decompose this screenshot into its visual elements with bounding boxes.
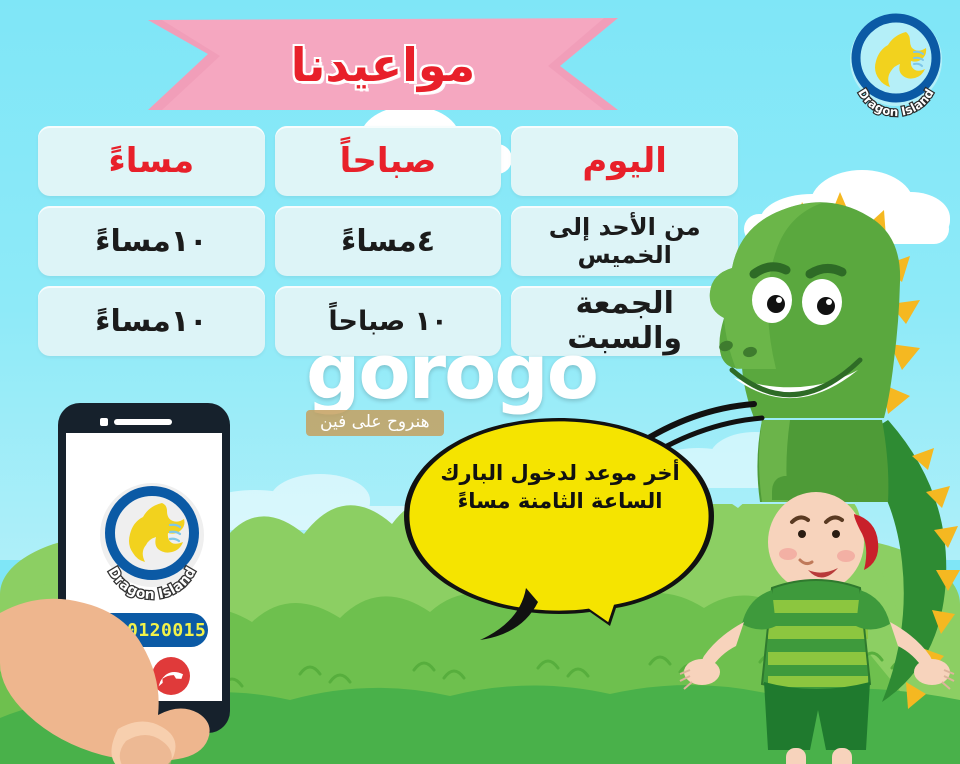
- notice-text: أخر موعد لدخول البارك الساعة الثامنة مسا…: [410, 442, 710, 532]
- phone-camera-icon: [100, 418, 108, 426]
- page-title: مواعيدنا: [148, 16, 618, 114]
- cell-morning: ٤مساءً: [275, 206, 502, 276]
- hand-holding-phone: [0, 553, 280, 764]
- poster-canvas: مواعيدنا Dragon Island اليوم صباحاً مساء…: [0, 0, 960, 764]
- watermark: gorogo هنروح على فين: [306, 336, 646, 446]
- notice-line-1: أخر موعد لدخول البارك: [440, 459, 679, 487]
- brand-logo: Dragon Island: [840, 8, 952, 120]
- watermark-text: gorogo: [306, 336, 646, 408]
- watermark-tagline: هنروح على فين: [306, 410, 444, 436]
- header-evening: مساءً: [38, 126, 265, 196]
- header-morning: صباحاً: [275, 126, 502, 196]
- phone-speaker: [114, 419, 172, 425]
- table-header-row: اليوم صباحاً مساءً: [38, 126, 738, 196]
- notice-line-2: الساعة الثامنة مساءً: [458, 487, 663, 515]
- cell-evening: ١٠مساءً: [38, 206, 265, 276]
- table-row: من الأحد إلى الخميس ٤مساءً ١٠مساءً: [38, 206, 738, 276]
- phone-mockup: Dragon Island 01200120015: [58, 403, 230, 733]
- cell-evening: ١٠مساءً: [38, 286, 265, 356]
- title-ribbon: مواعيدنا: [148, 16, 618, 114]
